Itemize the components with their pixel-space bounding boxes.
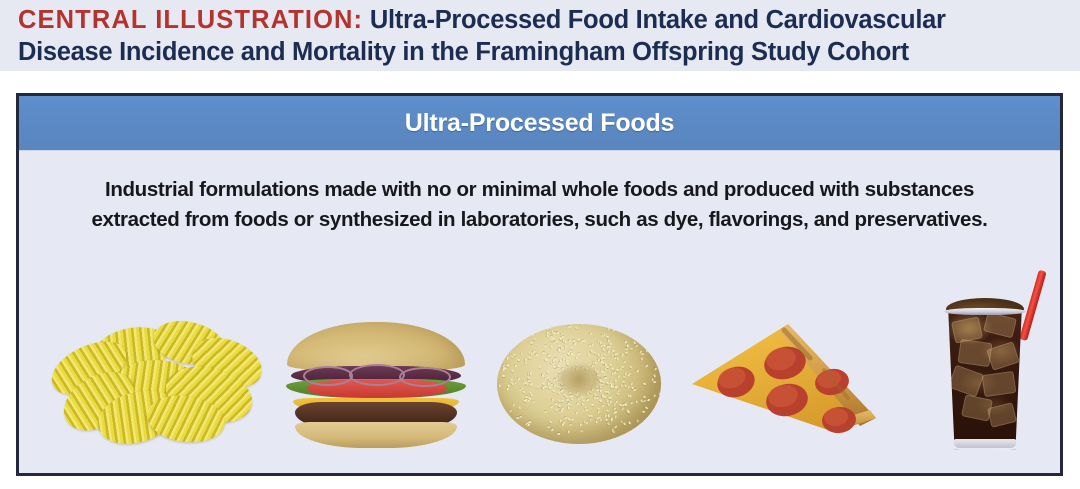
sesame-seed	[556, 331, 560, 335]
bagel-hole	[564, 370, 594, 389]
sesame-seed	[552, 359, 555, 362]
sesame-seed	[564, 345, 567, 349]
burger-top-bun	[287, 322, 465, 370]
sesame-seed	[575, 364, 579, 367]
sesame-seed	[599, 389, 601, 392]
sesame-seed	[597, 417, 600, 419]
sesame-seed	[548, 386, 552, 390]
sesame-seed	[530, 341, 534, 344]
sesame-seed	[603, 377, 607, 380]
sesame-seed	[646, 398, 650, 401]
sesame-seed	[546, 334, 549, 338]
sesame-seed	[623, 360, 627, 363]
sesame-seed	[575, 327, 579, 330]
sesame-seed	[513, 354, 516, 356]
sesame-seed	[530, 352, 533, 356]
sesame-seed	[562, 421, 566, 425]
sesame-seed	[517, 377, 520, 381]
sesame-seed	[527, 356, 531, 359]
sesame-seed	[524, 361, 528, 365]
sesame-seed	[625, 347, 628, 349]
sesame-seed	[627, 410, 631, 413]
sesame-seed	[577, 353, 581, 356]
sesame-seed	[614, 425, 618, 429]
burger-onion-ring	[303, 366, 353, 386]
sesame-seed	[653, 381, 656, 383]
sesame-seed	[580, 423, 583, 427]
ultra-processed-foods-panel: Ultra-Processed Foods Industrial formula…	[16, 93, 1063, 476]
food-illustration-row	[19, 264, 1060, 472]
sesame-seed	[559, 419, 562, 423]
sesame-seed	[584, 421, 588, 424]
sesame-seed	[544, 345, 547, 347]
ice-cube	[983, 312, 1017, 339]
burger-bottom-bun	[295, 422, 457, 448]
sesame-seed	[522, 391, 526, 394]
sesame-seed	[601, 404, 605, 407]
sesame-seed	[628, 422, 631, 426]
sesame-seed	[541, 375, 544, 378]
sesame-seed	[512, 404, 515, 408]
sesame-seed	[589, 391, 593, 394]
sesame-seed	[532, 400, 536, 404]
sesame-seed	[627, 385, 630, 389]
sesame-seed	[587, 354, 590, 358]
sesame-seed	[514, 364, 517, 368]
sesame-seed	[607, 403, 610, 407]
glass-body	[945, 310, 1025, 450]
sesame-seed	[621, 353, 623, 356]
sesame-seed	[557, 433, 561, 436]
sesame-seed	[570, 352, 573, 356]
sesame-seed	[549, 420, 553, 424]
sesame-seed	[589, 418, 592, 422]
sesame-seed	[509, 409, 513, 412]
sesame-seed	[567, 431, 569, 434]
sesame-seed	[602, 334, 604, 337]
sesame-seed	[562, 350, 565, 352]
sesame-seed	[548, 355, 551, 357]
sesame-seed	[611, 367, 615, 370]
sesame-seed	[643, 383, 647, 386]
sesame-seed	[623, 375, 626, 377]
panel-header-bar: Ultra-Processed Foods	[19, 96, 1060, 151]
sesame-seed	[506, 387, 509, 391]
sesame-seed	[531, 333, 535, 337]
sesame-seed	[627, 345, 629, 348]
ice-cube	[982, 371, 1017, 397]
pepperoni-pizza-illustration	[684, 322, 884, 440]
ice-cube	[948, 365, 984, 398]
sesame-seed	[610, 417, 614, 421]
sesame-seed	[532, 338, 536, 341]
sesame-seed	[625, 351, 629, 354]
burger-onion-ring	[399, 367, 451, 387]
sesame-seed	[553, 384, 556, 388]
sesame-seed	[604, 414, 607, 418]
sesame-seed	[565, 363, 569, 367]
sesame-seed	[553, 341, 557, 345]
sesame-seed	[567, 407, 570, 410]
sesame-seed	[653, 374, 656, 378]
sesame-seed	[636, 401, 638, 404]
sesame-seed	[630, 347, 634, 350]
sesame-seed	[551, 428, 554, 432]
sesame-seed	[607, 422, 611, 426]
sesame-seed	[620, 384, 623, 388]
sesame-seed	[613, 411, 617, 414]
sesame-seed	[636, 369, 640, 373]
sesame-seed	[606, 335, 610, 338]
sesame-seed	[623, 422, 626, 426]
sesame-seed	[654, 395, 657, 399]
sesame-seed	[506, 358, 508, 361]
sesame-seed	[554, 358, 557, 360]
sesame-seed	[641, 353, 644, 355]
sesame-seed	[516, 417, 519, 419]
sesame-seed	[558, 371, 561, 373]
sesame-seed	[642, 410, 646, 413]
sesame-seed	[517, 359, 521, 362]
sesame-seed	[526, 423, 530, 427]
sesame-seed	[557, 392, 561, 396]
potato-chips-illustration	[41, 320, 271, 450]
sesame-seed	[622, 380, 626, 383]
sesame-seed	[559, 374, 561, 377]
sesame-seed	[562, 359, 565, 363]
pizza-slice-shape	[684, 322, 884, 440]
cola-liquid	[945, 313, 1025, 440]
sesame-seed	[576, 402, 580, 406]
sesame-seed	[572, 418, 574, 421]
sesame-seed	[598, 375, 602, 378]
sesame-seed	[521, 352, 523, 355]
sesame-seed	[616, 393, 620, 397]
panel-body: Industrial formulations made with no or …	[19, 151, 1060, 235]
sesame-seed	[629, 365, 633, 369]
sesame-seed	[615, 380, 617, 383]
sesame-seed	[518, 406, 522, 410]
sesame-seed	[598, 378, 601, 381]
sesame-seed	[561, 407, 564, 411]
sesame-seed	[561, 346, 564, 350]
sesame-seed	[591, 343, 594, 347]
sesame-seed	[614, 403, 616, 406]
sesame-seed	[597, 410, 600, 414]
sesame-seed	[551, 398, 554, 402]
sesame-seed	[645, 407, 649, 410]
sesame-seed	[630, 402, 634, 405]
sesame-seed	[623, 384, 626, 388]
sesame-seed	[645, 365, 649, 368]
sesame-seed	[640, 357, 643, 361]
ultra-processed-foods-definition: Industrial formulations made with no or …	[77, 175, 1002, 235]
sesame-seed	[505, 364, 508, 366]
sesame-seed	[605, 410, 609, 413]
sesame-seed	[590, 404, 593, 406]
sesame-seed	[551, 390, 555, 393]
sesame-seed	[618, 375, 621, 379]
sesame-seed	[511, 369, 515, 372]
title-line-2: Disease Incidence and Mortality in the F…	[18, 36, 1064, 68]
sesame-seed	[608, 414, 610, 417]
sesame-bagel-illustration	[497, 324, 661, 444]
sesame-seed	[595, 421, 597, 424]
burger-onion-ring	[349, 364, 405, 386]
sesame-seed	[575, 357, 578, 361]
sesame-seed	[577, 397, 580, 401]
sesame-seed	[570, 397, 573, 401]
sesame-seed	[544, 411, 547, 413]
sesame-seed	[544, 359, 547, 363]
sesame-seed	[542, 382, 546, 385]
title-kicker: CENTRAL ILLUSTRATION:	[18, 6, 363, 34]
sesame-seed	[585, 408, 589, 411]
sesame-seed	[607, 350, 610, 354]
sesame-seed	[502, 375, 505, 377]
sesame-seed	[659, 392, 661, 395]
glass-base	[954, 439, 1016, 448]
sesame-seed	[614, 416, 616, 419]
sesame-seed	[616, 369, 619, 371]
sesame-seed	[498, 384, 500, 387]
cola-glass-illustration	[931, 270, 1039, 450]
sesame-seed	[569, 423, 573, 426]
panel-header-title: Ultra-Processed Foods	[405, 109, 674, 138]
sesame-seed	[546, 328, 550, 331]
sesame-seed	[630, 382, 633, 386]
title-line-1: CENTRAL ILLUSTRATION: Ultra-Processed Fo…	[18, 4, 1064, 36]
sesame-seed	[635, 344, 639, 348]
title-line-1-rest: Ultra-Processed Food Intake and Cardiova…	[363, 6, 946, 34]
sesame-seed	[591, 365, 595, 368]
sesame-seed	[564, 340, 566, 343]
sesame-seed	[542, 352, 545, 354]
sesame-seed	[555, 409, 558, 411]
drinking-straw	[1019, 270, 1047, 341]
sesame-seed	[593, 396, 596, 400]
sesame-seed	[612, 371, 616, 375]
sesame-seed	[569, 395, 572, 397]
sesame-seed	[580, 430, 583, 432]
sesame-seed	[519, 415, 523, 418]
glass-rim	[944, 308, 1026, 315]
sesame-seed	[609, 400, 612, 404]
sesame-seed	[637, 420, 640, 424]
sesame-seed	[609, 363, 613, 367]
sesame-seed	[606, 366, 609, 368]
sesame-seed	[594, 361, 597, 365]
sesame-seed	[566, 352, 570, 355]
sesame-seed	[570, 347, 574, 350]
sesame-seed	[550, 345, 553, 349]
sesame-seed	[511, 356, 514, 358]
sesame-seed	[604, 419, 608, 422]
sesame-seed	[535, 385, 539, 388]
sesame-seed	[575, 412, 578, 416]
cheeseburger-illustration	[287, 322, 465, 450]
sesame-seed	[547, 426, 550, 428]
sesame-seed	[573, 342, 576, 346]
sesame-seed	[589, 332, 592, 336]
sesame-seed	[613, 328, 616, 332]
sesame-seed	[600, 384, 603, 386]
sesame-seed	[585, 399, 589, 402]
sesame-seed	[616, 358, 619, 362]
sesame-seed	[621, 407, 624, 411]
sesame-seed	[654, 367, 658, 371]
sesame-seed	[643, 395, 647, 398]
sesame-seed	[550, 406, 554, 409]
sesame-seed	[538, 366, 542, 369]
sesame-seed	[607, 327, 610, 331]
sesame-seed	[535, 353, 539, 357]
sesame-seed	[580, 324, 583, 326]
sesame-seed	[526, 400, 530, 403]
sesame-seed	[568, 339, 571, 343]
sesame-seed	[546, 370, 549, 374]
central-illustration-title-band: CENTRAL ILLUSTRATION: Ultra-Processed Fo…	[0, 0, 1080, 71]
sesame-seed	[557, 385, 561, 388]
sesame-seed	[645, 349, 647, 352]
